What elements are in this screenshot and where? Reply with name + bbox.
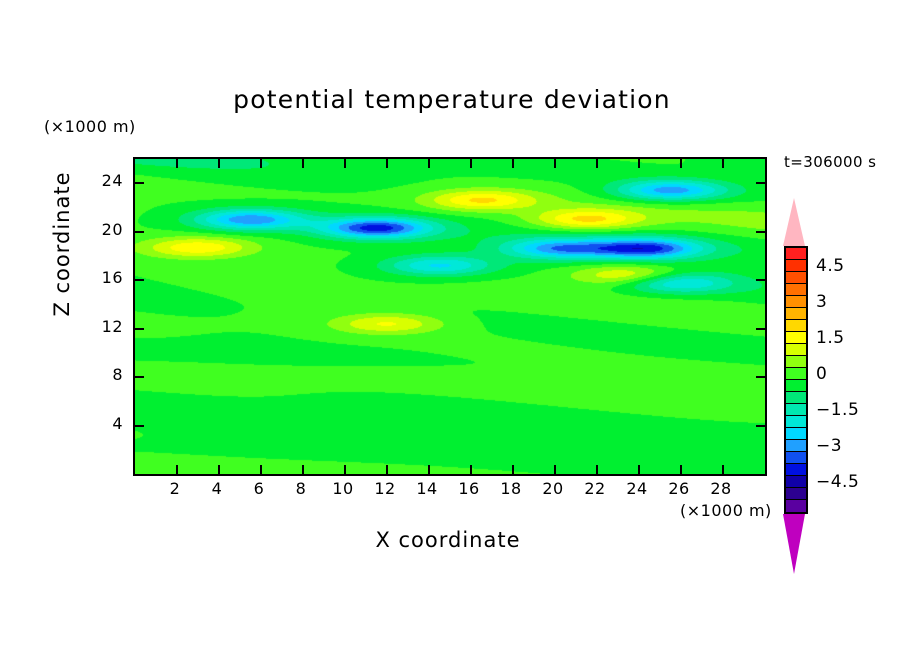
colorbar-band <box>786 464 806 476</box>
x-tick-mark <box>176 465 178 474</box>
y-tick-label: 8 <box>83 365 123 384</box>
x-tick-label: 8 <box>281 479 321 498</box>
colorbar-tick-label: 4.5 <box>816 256 845 276</box>
contour-field-canvas <box>135 159 765 474</box>
x-tick-mark-top <box>386 159 388 168</box>
x-tick-label: 26 <box>659 479 699 498</box>
colorbar-band <box>786 392 806 404</box>
colorbar-band <box>786 428 806 440</box>
time-annotation: t=306000 s <box>784 153 876 171</box>
y-tick-mark-right <box>756 231 765 233</box>
x-tick-mark-top <box>596 159 598 168</box>
y-tick-mark <box>135 328 144 330</box>
colorbar-tick-label: 0 <box>816 364 827 384</box>
colorbar-band <box>786 284 806 296</box>
colorbar: 4.531.50−1.5−3−4.5 <box>770 196 900 516</box>
x-tick-label: 18 <box>491 479 531 498</box>
x-tick-label: 6 <box>239 479 279 498</box>
x-tick-mark-top <box>638 159 640 168</box>
colorbar-band <box>786 308 806 320</box>
y-tick-mark <box>135 182 144 184</box>
x-tick-mark <box>428 465 430 474</box>
y-tick-label: 4 <box>83 414 123 433</box>
colorbar-tick-label: −4.5 <box>816 472 859 492</box>
y-tick-mark-right <box>756 182 765 184</box>
y-tick-label: 20 <box>83 220 123 239</box>
colorbar-band <box>786 272 806 284</box>
colorbar-tick-label: 1.5 <box>816 328 845 348</box>
x-tick-mark <box>512 465 514 474</box>
colorbar-band-stack <box>784 246 808 514</box>
colorbar-band <box>786 404 806 416</box>
contour-plot-area <box>133 157 767 476</box>
x-tick-mark-top <box>554 159 556 168</box>
x-tick-mark-top <box>722 159 724 168</box>
x-tick-mark <box>680 465 682 474</box>
y-tick-label: 12 <box>83 317 123 336</box>
x-tick-label: 14 <box>407 479 447 498</box>
y-tick-mark <box>135 376 144 378</box>
colorbar-band <box>786 452 806 464</box>
colorbar-tick-label: 3 <box>816 292 827 312</box>
x-tick-mark <box>302 465 304 474</box>
y-tick-mark <box>135 279 144 281</box>
x-tick-mark-top <box>176 159 178 168</box>
x-tick-mark <box>218 465 220 474</box>
colorbar-band <box>786 356 806 368</box>
x-tick-mark-top <box>302 159 304 168</box>
colorbar-band <box>786 380 806 392</box>
y-tick-mark-right <box>756 425 765 427</box>
y-tick-mark-right <box>756 328 765 330</box>
y-axis-unit-label: (×1000 m) <box>44 117 136 136</box>
x-tick-mark <box>554 465 556 474</box>
x-tick-label: 12 <box>365 479 405 498</box>
colorbar-band <box>786 344 806 356</box>
y-tick-mark-right <box>756 376 765 378</box>
y-axis-title: Z coordinate <box>50 144 74 344</box>
x-tick-mark-top <box>512 159 514 168</box>
x-tick-mark <box>386 465 388 474</box>
y-tick-mark <box>135 231 144 233</box>
x-tick-label: 28 <box>701 479 741 498</box>
x-axis-unit-label: (×1000 m) <box>680 501 772 520</box>
page-title: potential temperature deviation <box>0 85 904 114</box>
colorbar-band <box>786 500 806 512</box>
colorbar-band <box>786 440 806 452</box>
x-tick-mark <box>722 465 724 474</box>
x-tick-mark-top <box>680 159 682 168</box>
x-tick-mark <box>260 465 262 474</box>
x-tick-label: 20 <box>533 479 573 498</box>
colorbar-band <box>786 476 806 488</box>
x-tick-mark <box>596 465 598 474</box>
x-tick-mark-top <box>344 159 346 168</box>
x-tick-mark-top <box>428 159 430 168</box>
colorbar-band <box>786 332 806 344</box>
colorbar-band <box>786 260 806 272</box>
y-tick-mark-right <box>756 279 765 281</box>
x-tick-mark-top <box>470 159 472 168</box>
y-tick-mark <box>135 425 144 427</box>
x-tick-mark <box>470 465 472 474</box>
x-axis-title: X coordinate <box>133 528 763 552</box>
colorbar-under-arrow-icon <box>783 514 805 574</box>
x-tick-mark-top <box>260 159 262 168</box>
x-tick-label: 10 <box>323 479 363 498</box>
x-tick-label: 22 <box>575 479 615 498</box>
colorbar-band <box>786 488 806 500</box>
colorbar-tick-label: −1.5 <box>816 400 859 420</box>
x-tick-mark-top <box>218 159 220 168</box>
x-tick-label: 2 <box>155 479 195 498</box>
y-tick-label: 24 <box>83 171 123 190</box>
colorbar-tick-label: −3 <box>816 436 842 456</box>
colorbar-band <box>786 416 806 428</box>
y-tick-label: 16 <box>83 268 123 287</box>
colorbar-band <box>786 368 806 380</box>
x-tick-label: 16 <box>449 479 489 498</box>
colorbar-band <box>786 320 806 332</box>
colorbar-over-arrow-icon <box>783 198 805 246</box>
x-tick-label: 4 <box>197 479 237 498</box>
colorbar-band <box>786 296 806 308</box>
colorbar-band <box>786 248 806 260</box>
x-tick-mark <box>344 465 346 474</box>
x-tick-label: 24 <box>617 479 657 498</box>
x-tick-mark <box>638 465 640 474</box>
